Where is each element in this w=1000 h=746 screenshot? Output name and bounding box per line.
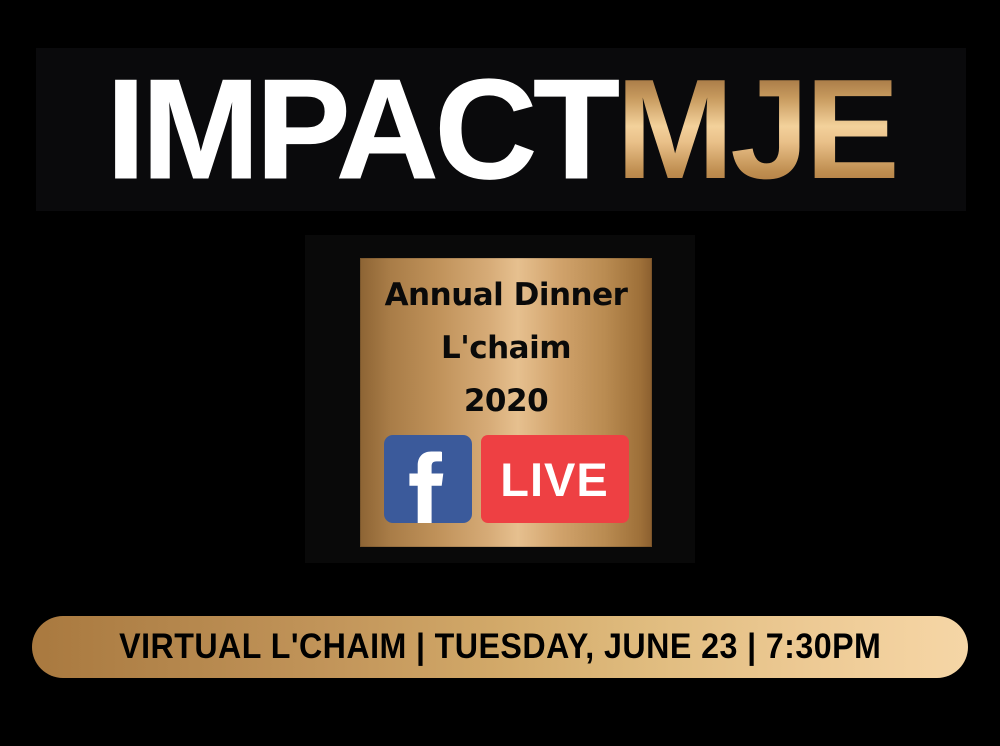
facebook-badge[interactable] xyxy=(384,435,472,523)
event-title-line-2: L'chaim xyxy=(441,333,571,364)
detail-separator-2: | xyxy=(738,627,766,667)
live-badge-label: LIVE xyxy=(500,456,608,503)
event-details-text: VIRTUAL L'CHAIM|TUESDAY, JUNE 23|7:30PM xyxy=(119,627,881,667)
detail-separator-1: | xyxy=(407,627,435,667)
event-card-frame: Annual Dinner L'chaim 2020 LIVE xyxy=(305,235,695,563)
poster-canvas: IMPACTMJE Annual Dinner L'chaim 2020 LIV… xyxy=(0,0,1000,746)
event-card: Annual Dinner L'chaim 2020 LIVE xyxy=(360,258,652,547)
event-title-line-1: Annual Dinner xyxy=(385,280,628,311)
logo-panel: IMPACTMJE xyxy=(36,48,966,211)
detail-segment-date: TUESDAY, JUNE 23 xyxy=(434,627,737,666)
live-badge[interactable]: LIVE xyxy=(481,435,629,523)
brand-wordmark: IMPACTMJE xyxy=(44,59,958,201)
detail-segment-time: 7:30PM xyxy=(766,627,882,666)
brand-wordmark-mje: MJE xyxy=(616,50,896,209)
facebook-f-icon xyxy=(384,435,472,523)
brand-wordmark-impact: IMPACT xyxy=(106,50,616,209)
detail-segment-virtual: VIRTUAL L'CHAIM xyxy=(119,627,407,666)
event-details-banner: VIRTUAL L'CHAIM|TUESDAY, JUNE 23|7:30PM xyxy=(32,616,968,678)
badge-row: LIVE xyxy=(384,435,629,523)
event-title-line-3: 2020 xyxy=(464,386,548,417)
